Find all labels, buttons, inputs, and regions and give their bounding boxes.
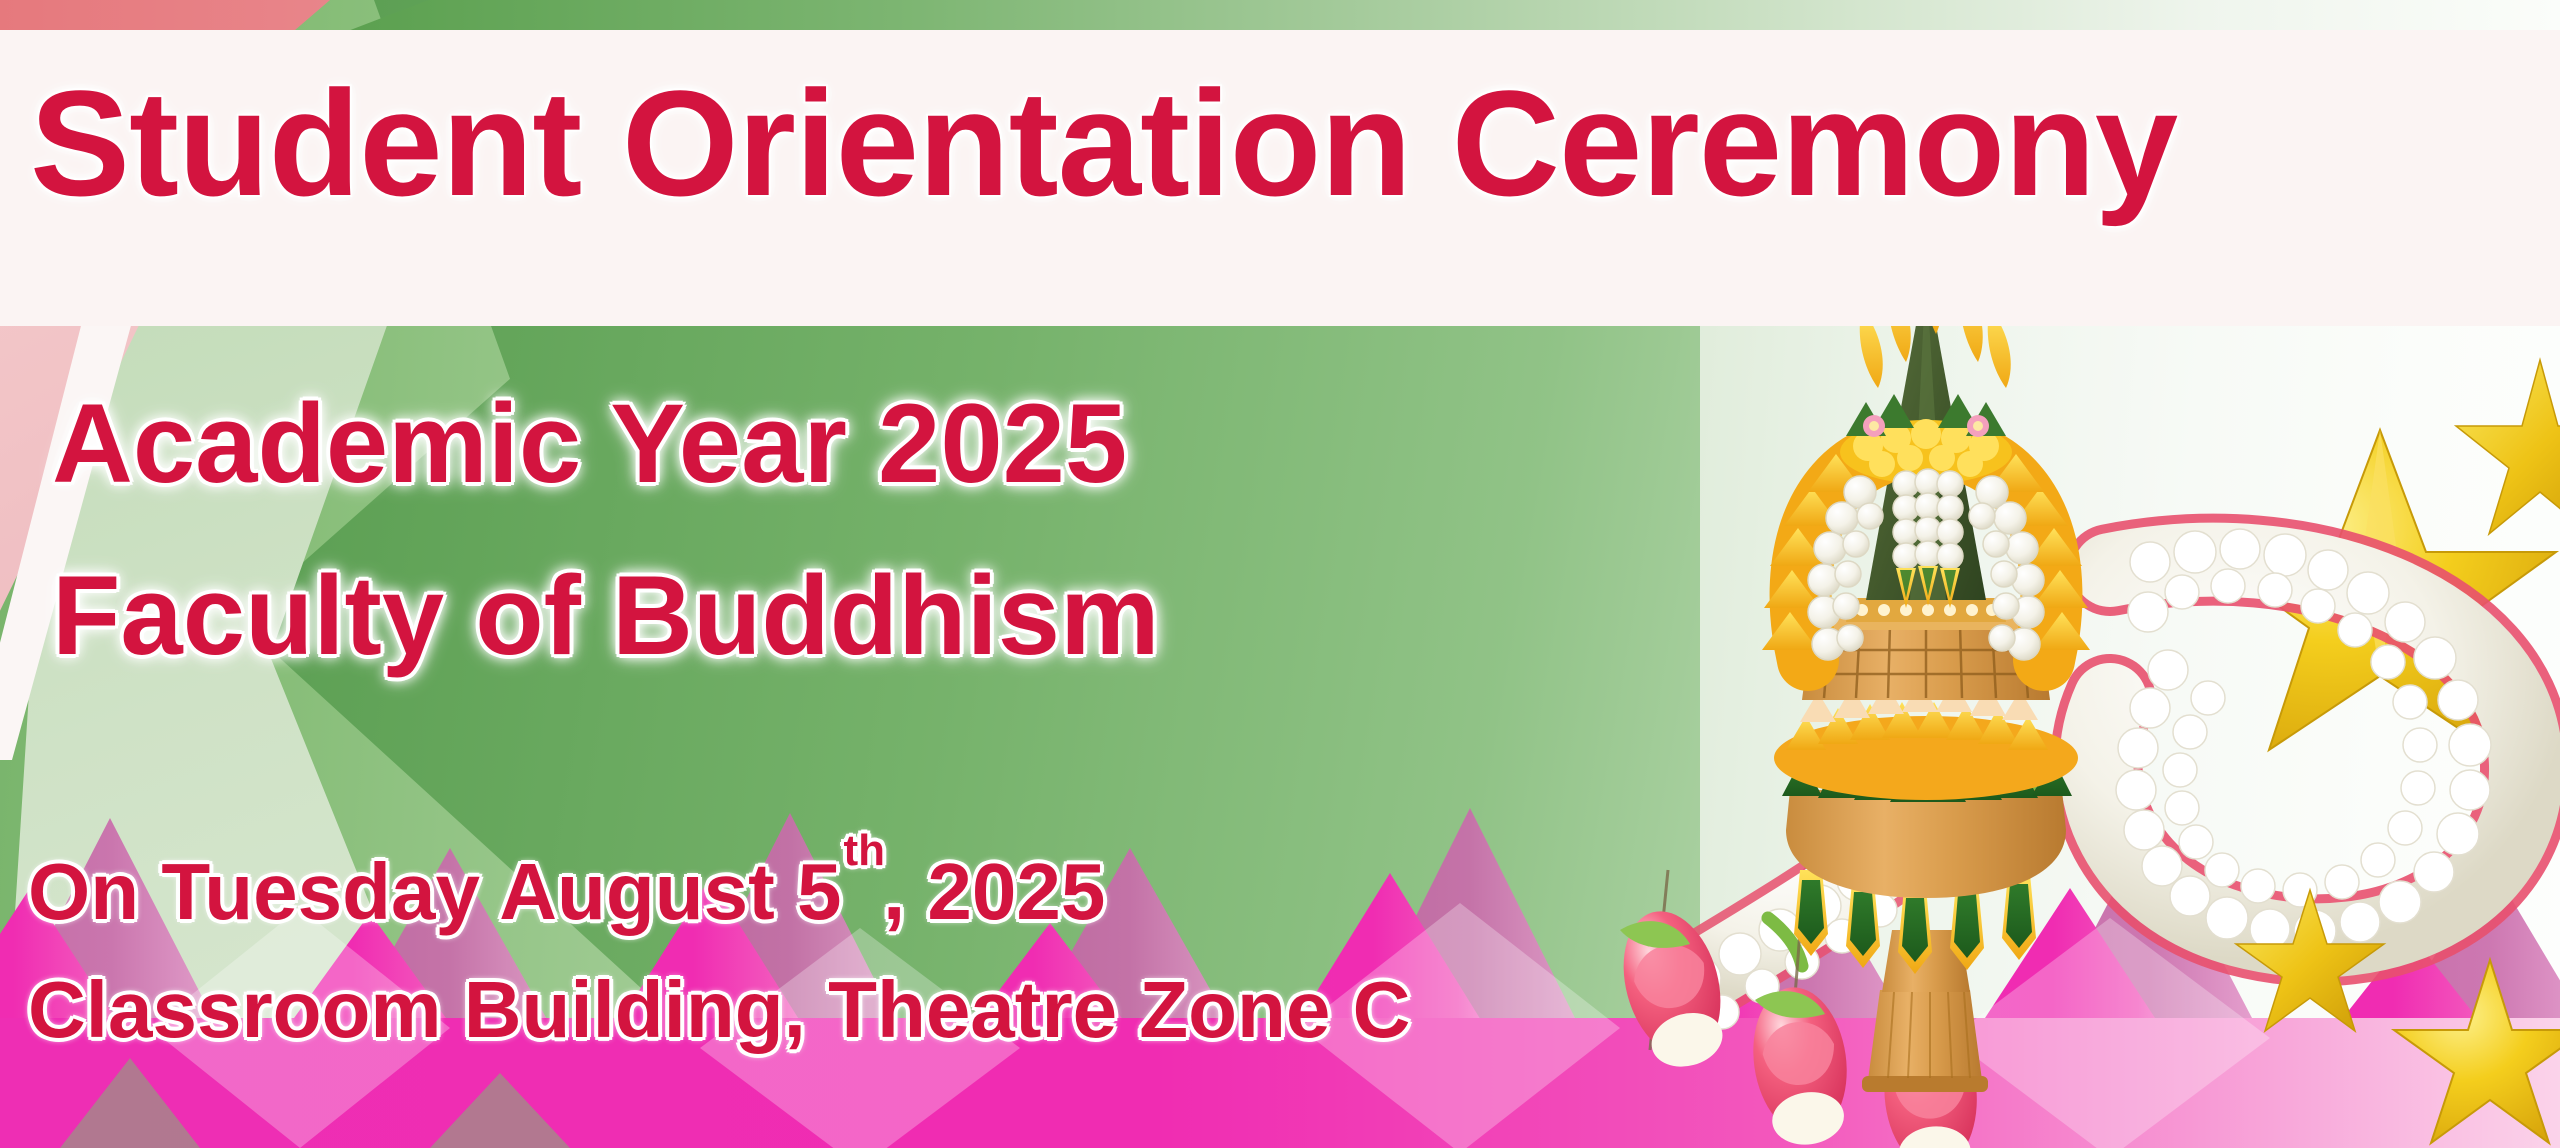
event-venue-line: Classroom Building, Theatre Zone C — [28, 970, 1410, 1050]
top-strip-green — [340, 0, 2560, 34]
top-strip-salmon — [0, 0, 330, 34]
date-year: , 2025 — [883, 847, 1105, 936]
date-ordinal-suffix: th — [843, 826, 885, 875]
date-prefix: On Tuesday August 5 — [28, 847, 841, 936]
event-banner: Student Orientation Ceremony Academic Ye… — [0, 0, 2560, 1148]
title-band: Student Orientation Ceremony — [0, 30, 2560, 326]
headline-faculty: Faculty of Buddhism — [52, 560, 1160, 672]
headline-group: Academic Year 2025 Faculty of Buddhism — [0, 330, 1700, 790]
page-title: Student Orientation Ceremony — [30, 68, 2177, 218]
headline-academic-year: Academic Year 2025 — [52, 388, 1127, 500]
event-date-line: On Tuesday August 5th, 2025 — [28, 852, 1105, 932]
detail-group: On Tuesday August 5th, 2025 Classroom Bu… — [0, 840, 1700, 1140]
